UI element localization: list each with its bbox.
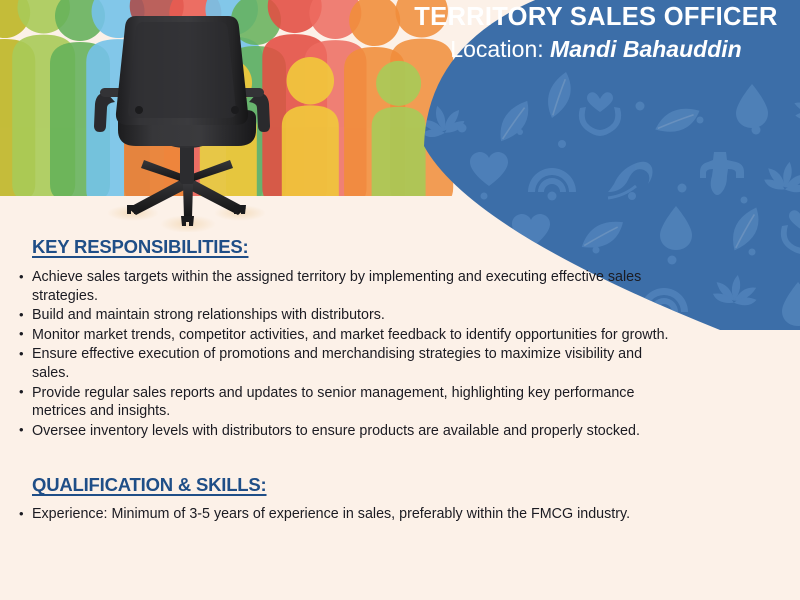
job-posting-poster: TERRITORY SALES OFFICER Location: Mandi … — [0, 0, 800, 600]
list-item: Ensure effective execution of promotions… — [18, 345, 678, 382]
header-text-block: TERRITORY SALES OFFICER Location: Mandi … — [396, 2, 796, 65]
list-item: Build and maintain strong relationships … — [18, 306, 678, 325]
list-item: Oversee inventory levels with distributo… — [18, 422, 678, 441]
qualification-skills-list: Experience: Minimum of 3-5 years of expe… — [18, 505, 678, 524]
poster-content: KEY RESPONSIBILITIES: Achieve sales targ… — [18, 232, 678, 525]
list-item: Provide regular sales reports and update… — [18, 384, 678, 421]
list-item: Experience: Minimum of 3-5 years of expe… — [18, 505, 678, 524]
page-title: TERRITORY SALES OFFICER — [396, 2, 796, 34]
list-item: Achieve sales targets within the assigne… — [18, 268, 678, 305]
qualification-skills-heading: QUALIFICATION & SKILLS: — [32, 474, 678, 496]
list-item: Monitor market trends, competitor activi… — [18, 326, 678, 345]
key-responsibilities-list: Achieve sales targets within the assigne… — [18, 268, 678, 440]
location-label: Location: — [450, 36, 543, 62]
key-responsibilities-heading: KEY RESPONSIBILITIES: — [32, 236, 678, 258]
location-value: Mandi Bahauddin — [550, 36, 742, 62]
job-location: Location: Mandi Bahauddin — [396, 35, 796, 65]
